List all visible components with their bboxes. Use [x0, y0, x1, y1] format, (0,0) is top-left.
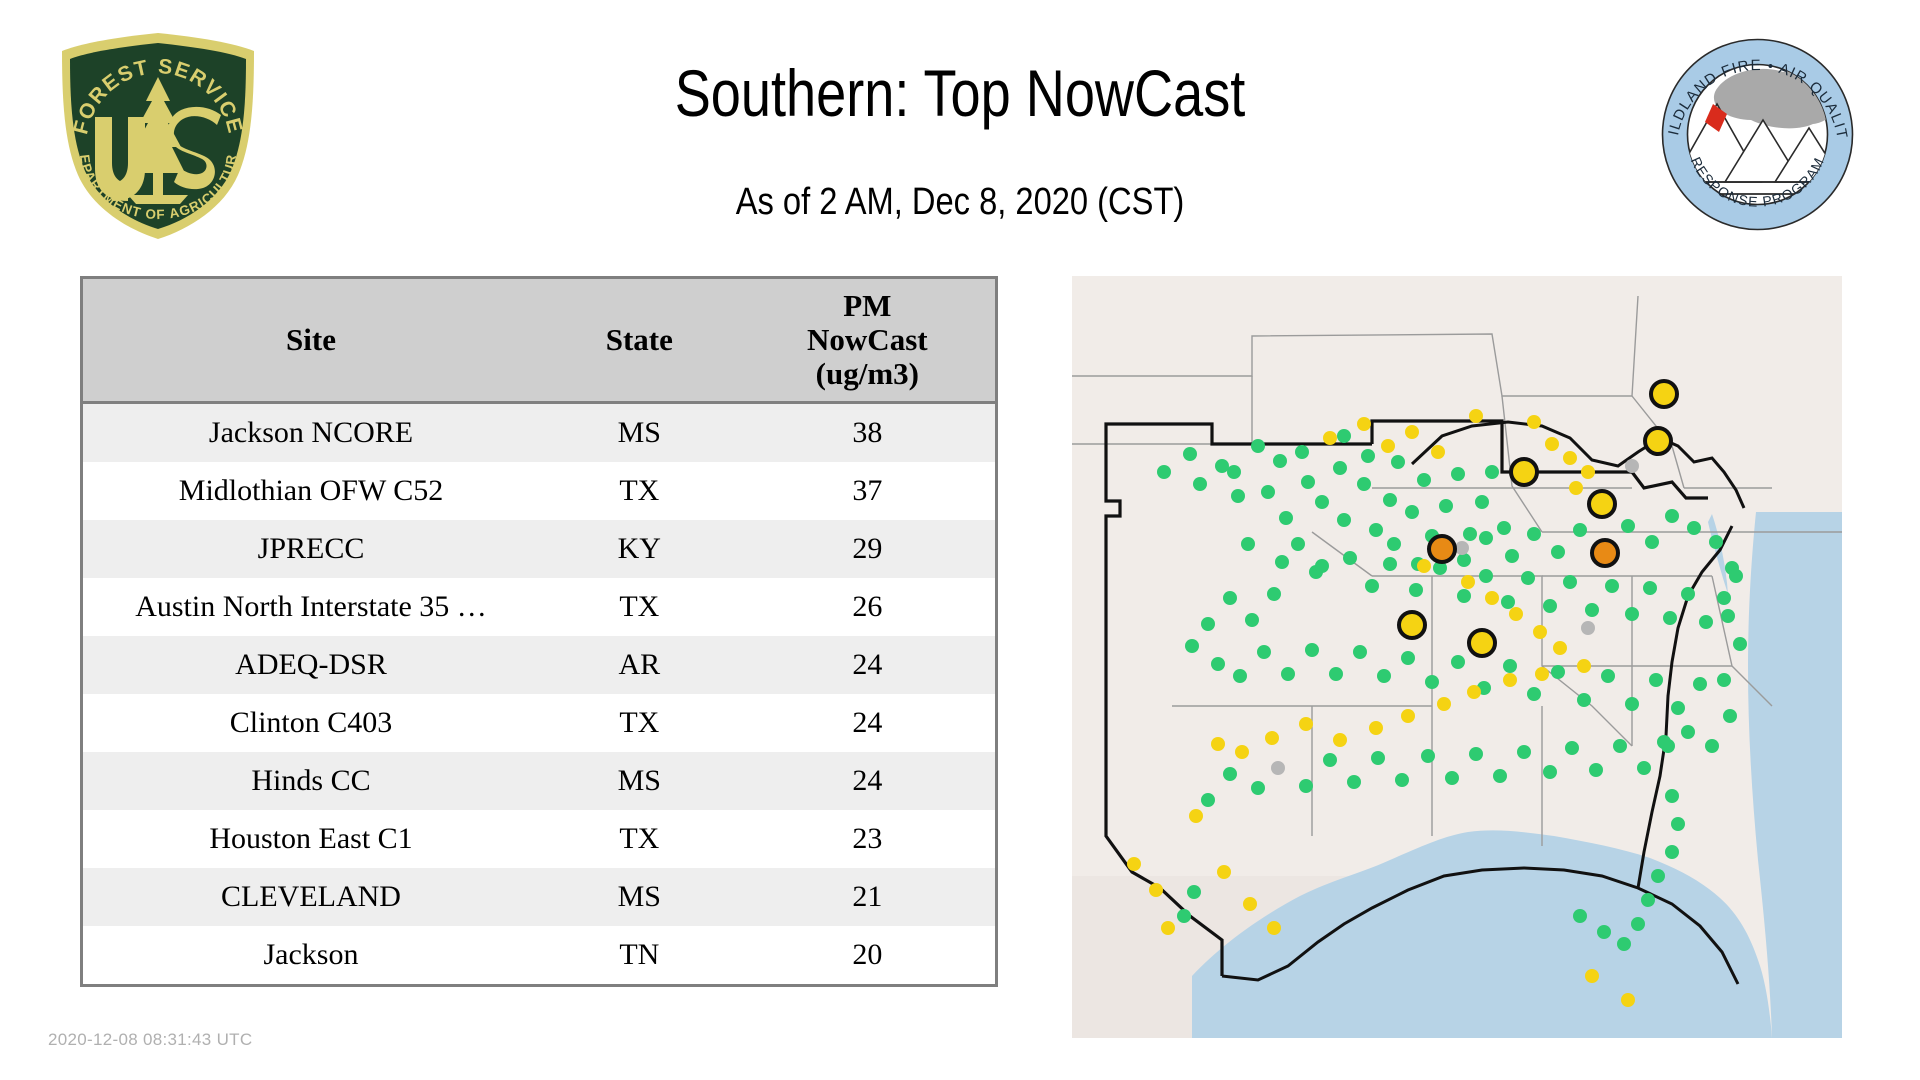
table-row[interactable]: ADEQ-DSRAR24 — [83, 636, 995, 694]
pm-header-line-1: PM — [843, 288, 891, 323]
table-body: Jackson NCOREMS38Midlothian OFW C52TX37J… — [83, 403, 995, 985]
pm-header-line-3: (ug/m3) — [816, 356, 919, 391]
table-header: Site State PM NowCast (ug/m3) — [83, 279, 995, 403]
cell-pm-nowcast: 26 — [740, 578, 995, 636]
cell-site: ADEQ-DSR — [83, 636, 539, 694]
cell-site: Jackson NCORE — [83, 403, 539, 463]
cell-state: MS — [539, 752, 740, 810]
cell-state: TX — [539, 810, 740, 868]
cell-pm-nowcast: 24 — [740, 752, 995, 810]
usfs-shield-logo: FOREST SERVICE DEPARTMENT OF AGRICULTURE — [48, 25, 268, 245]
cell-pm-nowcast: 21 — [740, 868, 995, 926]
cell-site: Hinds CC — [83, 752, 539, 810]
highlighted-monitor-marker[interactable] — [1589, 491, 1615, 517]
column-header-pm-nowcast[interactable]: PM NowCast (ug/m3) — [740, 279, 995, 403]
cell-site: JPRECC — [83, 520, 539, 578]
cell-state: KY — [539, 520, 740, 578]
air-quality-map[interactable]: Air Quality Index HazardousVery Unhealth… — [1072, 276, 1842, 1038]
cell-pm-nowcast: 23 — [740, 810, 995, 868]
wildland-fire-air-quality-response-program-logo: WILDLAND FIRE • AIR QUALITY RESPONSE PRO… — [1655, 32, 1860, 237]
cell-site: Jackson — [83, 926, 539, 984]
cell-state: TX — [539, 578, 740, 636]
highlighted-monitor-marker[interactable] — [1645, 428, 1671, 454]
table-row[interactable]: Houston East C1TX23 — [83, 810, 995, 868]
highlighted-monitor-marker[interactable] — [1429, 536, 1455, 562]
column-header-site[interactable]: Site — [83, 279, 539, 403]
table-row[interactable]: Jackson NCOREMS38 — [83, 403, 995, 463]
page-title: Southern: Top NowCast — [534, 55, 1387, 131]
table-row[interactable]: JPRECCKY29 — [83, 520, 995, 578]
cell-state: TN — [539, 926, 740, 984]
nowcast-table: Site State PM NowCast (ug/m3) Jackson NC… — [83, 279, 995, 984]
cell-pm-nowcast: 24 — [740, 636, 995, 694]
table-row[interactable]: Clinton C403TX24 — [83, 694, 995, 752]
cell-site: CLEVELAND — [83, 868, 539, 926]
cell-state: AR — [539, 636, 740, 694]
highlighted-monitor-marker[interactable] — [1511, 459, 1537, 485]
cell-state: TX — [539, 462, 740, 520]
column-header-state[interactable]: State — [539, 279, 740, 403]
cell-pm-nowcast: 38 — [740, 403, 995, 463]
cell-state: MS — [539, 868, 740, 926]
table-row[interactable]: Austin North Interstate 35 …TX26 — [83, 578, 995, 636]
highlighted-monitor-marker[interactable] — [1651, 381, 1677, 407]
cell-state: MS — [539, 403, 740, 463]
cell-pm-nowcast: 20 — [740, 926, 995, 984]
cell-site: Midlothian OFW C52 — [83, 462, 539, 520]
footer-timestamp: 2020-12-08 08:31:43 UTC — [48, 1030, 252, 1050]
slide-header: FOREST SERVICE DEPARTMENT OF AGRICULTURE… — [0, 0, 1920, 250]
highlighted-monitor-marker[interactable] — [1399, 612, 1425, 638]
map-canvas[interactable] — [1072, 276, 1842, 1038]
highlighted-monitor-marker[interactable] — [1469, 630, 1495, 656]
table-row[interactable]: Hinds CCMS24 — [83, 752, 995, 810]
table-row[interactable]: Midlothian OFW C52TX37 — [83, 462, 995, 520]
cell-site: Austin North Interstate 35 … — [83, 578, 539, 636]
table-row[interactable]: JacksonTN20 — [83, 926, 995, 984]
cell-site: Clinton C403 — [83, 694, 539, 752]
table-row[interactable]: CLEVELANDMS21 — [83, 868, 995, 926]
cell-state: TX — [539, 694, 740, 752]
highlighted-monitor-marker[interactable] — [1592, 540, 1618, 566]
top-nowcast-table: Site State PM NowCast (ug/m3) Jackson NC… — [80, 276, 998, 987]
page-subtitle: As of 2 AM, Dec 8, 2020 (CST) — [513, 180, 1407, 224]
cell-site: Houston East C1 — [83, 810, 539, 868]
cell-pm-nowcast: 29 — [740, 520, 995, 578]
cell-pm-nowcast: 24 — [740, 694, 995, 752]
cell-pm-nowcast: 37 — [740, 462, 995, 520]
pm-header-line-2: NowCast — [807, 322, 928, 357]
table-header-row: Site State PM NowCast (ug/m3) — [83, 279, 995, 403]
